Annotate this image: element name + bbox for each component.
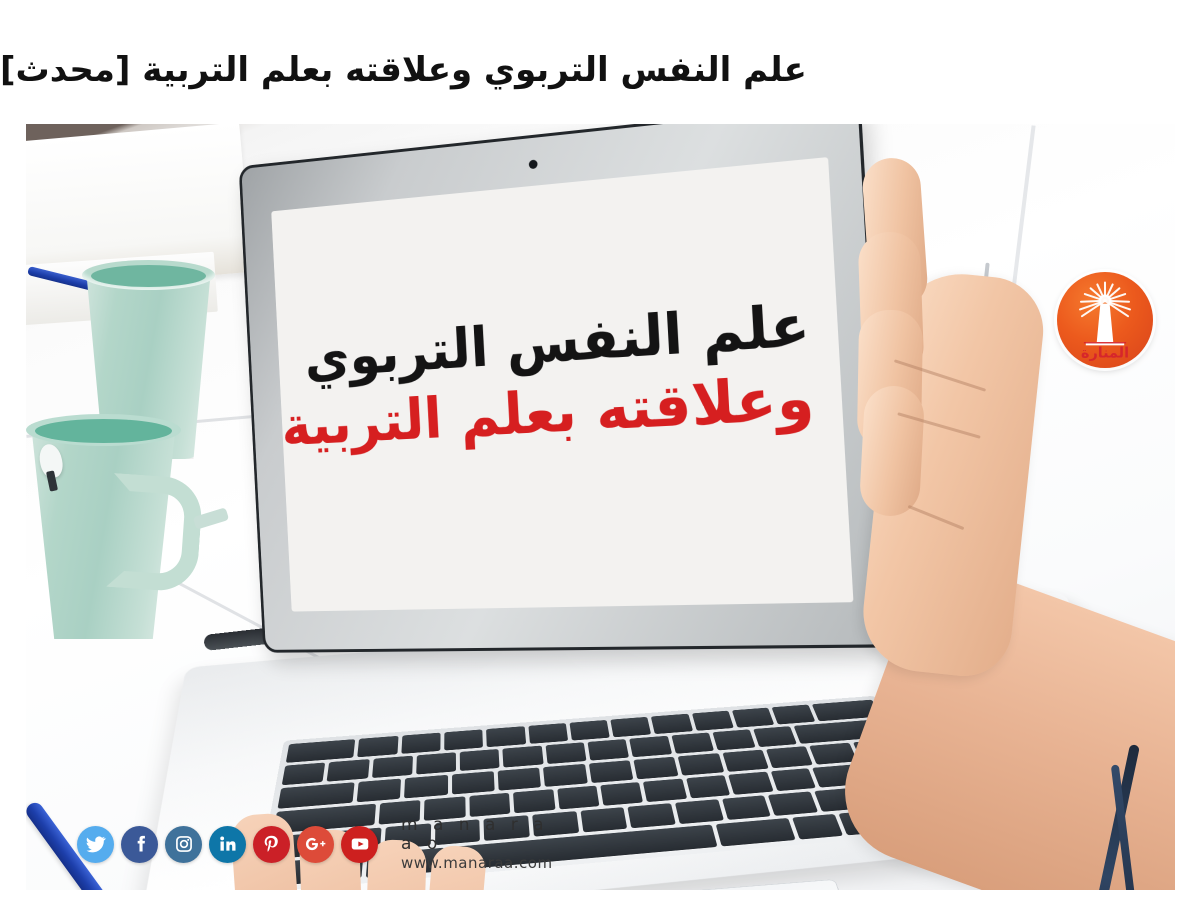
social-watermark-bar: m a n a r a a o www.manaraa.com — [52, 814, 522, 874]
mug-handle — [106, 473, 204, 593]
featured-image: علم النفس التربوي وعلاقته بعلم التربية — [26, 124, 1175, 890]
finger — [859, 385, 926, 518]
page-title: علم النفس التربوي وعلاقته بعلم التربية [… — [0, 23, 1200, 119]
mug-front-inner — [35, 419, 172, 443]
manaraa-lighthouse-logo: المنارة — [1057, 272, 1153, 368]
pinterest-icon[interactable] — [253, 826, 290, 863]
googleplus-icon[interactable] — [297, 826, 334, 863]
brand-url: www.manaraa.com — [401, 855, 553, 872]
youtube-icon[interactable] — [341, 826, 378, 863]
facebook-icon[interactable] — [121, 826, 158, 863]
mug-back-inner — [91, 265, 206, 287]
page-root: علم النفس التربوي وعلاقته بعلم التربية [… — [0, 0, 1200, 907]
brand-wordmark: m a n a r a a o www.manaraa.com — [401, 816, 553, 872]
instagram-icon[interactable] — [165, 826, 202, 863]
twitter-icon[interactable] — [77, 826, 114, 863]
brand-name: m a n a r a a o — [401, 816, 553, 855]
svg-text:المنارة: المنارة — [1081, 345, 1129, 361]
linkedin-icon[interactable] — [209, 826, 246, 863]
